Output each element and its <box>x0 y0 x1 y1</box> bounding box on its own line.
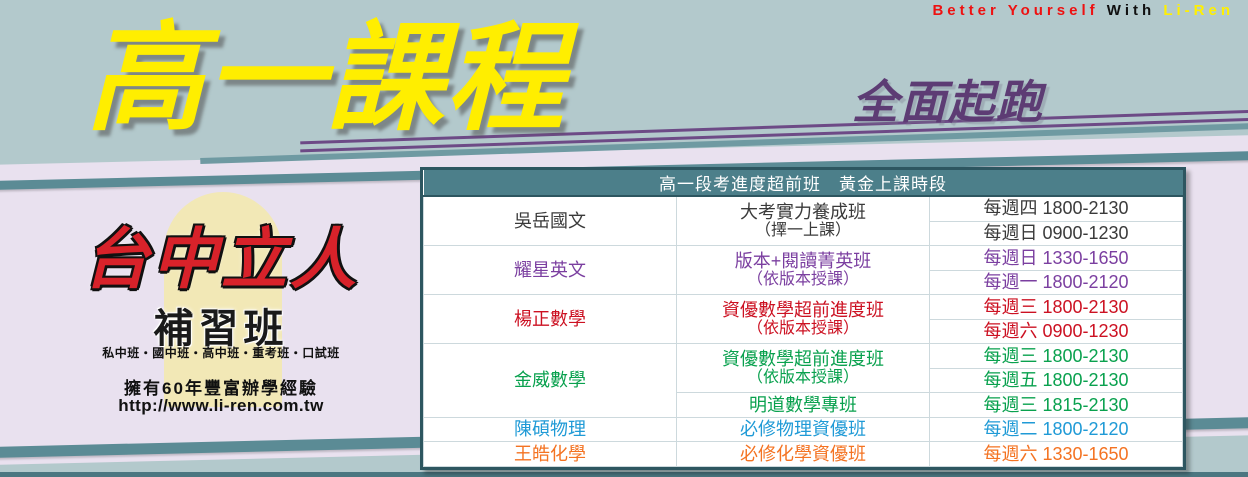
schedule-table-container: 高一段考進度超前班 黃金上課時段 吳岳國文大考實力養成班（擇一上課）每週四 18… <box>420 167 1186 470</box>
cell-teacher: 陳碩物理 <box>424 417 677 442</box>
tagline-part-with: With <box>1107 2 1155 19</box>
cell-time: 每週一 1800-2120 <box>930 270 1183 295</box>
table-row: 耀星英文版本+閱讀菁英班（依版本授課）每週日 1330-1650 <box>424 246 1183 271</box>
cell-time: 每週三 1800-2130 <box>930 344 1183 369</box>
logo-class-list: 私中班・國中班・高中班・重考班・口試班 <box>46 344 396 361</box>
table-row: 楊正數學資優數學超前進度班（依版本授課）每週三 1800-2130 <box>424 295 1183 320</box>
cell-course: 資優數學超前進度班（依版本授課） <box>677 295 930 344</box>
cell-course: 資優數學超前進度班（依版本授課） <box>677 344 930 393</box>
cell-time: 每週五 1800-2130 <box>930 368 1183 393</box>
tagline: Better Yourself With Li-Ren <box>0 2 1234 19</box>
cell-course: 版本+閱讀菁英班（依版本授課） <box>677 246 930 295</box>
cell-teacher: 耀星英文 <box>424 246 677 295</box>
cell-time: 每週三 1800-2130 <box>930 295 1183 320</box>
table-row: 陳碩物理必修物理資優班每週二 1800-2120 <box>424 417 1183 442</box>
background-footer-bar <box>0 472 1248 477</box>
cell-time: 每週三 1815-2130 <box>930 393 1183 418</box>
schedule-table: 高一段考進度超前班 黃金上課時段 吳岳國文大考實力養成班（擇一上課）每週四 18… <box>423 170 1183 467</box>
course-title: 版本+閱讀菁英班 <box>735 251 872 271</box>
course-note: （擇一上課） <box>680 222 926 240</box>
schedule-table-head: 高一段考進度超前班 黃金上課時段 <box>424 170 1183 196</box>
table-row: 王皓化學必修化學資優班每週六 1330-1650 <box>424 442 1183 467</box>
course-title: 資優數學超前進度班 <box>722 300 884 320</box>
cell-teacher: 吳岳國文 <box>424 196 677 246</box>
brand-logo: 台中立人 補習班 私中班・國中班・高中班・重考班・口試班 擁有60年豐富辦學經驗… <box>46 196 396 426</box>
poster-canvas: Better Yourself With Li-Ren 高一課程 全面起跑 台中… <box>0 0 1248 477</box>
cell-time: 每週二 1800-2120 <box>930 417 1183 442</box>
cell-course: 必修物理資優班 <box>677 417 930 442</box>
cell-teacher: 金威數學 <box>424 344 677 418</box>
course-title: 大考實力養成班 <box>740 202 866 222</box>
logo-brand-name: 台中立人 <box>46 206 396 302</box>
page-subtitle: 全面起跑 <box>852 66 1044 132</box>
course-title: 資優數學超前進度班 <box>722 349 884 369</box>
cell-time: 每週六 1330-1650 <box>930 442 1183 467</box>
cell-course: 必修化學資優班 <box>677 442 930 467</box>
table-row: 吳岳國文大考實力養成班（擇一上課）每週四 1800-2130 <box>424 196 1183 221</box>
course-note: （依版本授課） <box>680 320 926 338</box>
schedule-header-row: 高一段考進度超前班 黃金上課時段 <box>424 170 1183 196</box>
cell-teacher: 王皓化學 <box>424 442 677 467</box>
cell-teacher: 楊正數學 <box>424 295 677 344</box>
cell-time: 每週四 1800-2130 <box>930 196 1183 221</box>
schedule-header-title: 高一段考進度超前班 黃金上課時段 <box>424 170 1183 196</box>
tagline-part-better-yourself: Better Yourself <box>932 2 1098 19</box>
course-title: 必修化學資優班 <box>740 444 866 464</box>
course-title: 必修物理資優班 <box>740 419 866 439</box>
cell-course: 大考實力養成班（擇一上課） <box>677 196 930 246</box>
cell-time: 每週六 0900-1230 <box>930 319 1183 344</box>
schedule-table-body: 吳岳國文大考實力養成班（擇一上課）每週四 1800-2130每週日 0900-1… <box>424 196 1183 467</box>
page-title: 高一課程 <box>86 14 566 141</box>
table-row: 金威數學資優數學超前進度班（依版本授課）每週三 1800-2130 <box>424 344 1183 369</box>
cell-course: 明道數學專班 <box>677 393 930 418</box>
course-title: 明道數學專班 <box>749 395 857 415</box>
course-note: （依版本授課） <box>680 369 926 387</box>
course-note: （依版本授課） <box>680 271 926 289</box>
cell-time: 每週日 1330-1650 <box>930 246 1183 271</box>
cell-time: 每週日 0900-1230 <box>930 221 1183 246</box>
logo-website-url[interactable]: http://www.li-ren.com.tw <box>46 396 396 416</box>
tagline-part-li-ren: Li-Ren <box>1163 2 1234 19</box>
